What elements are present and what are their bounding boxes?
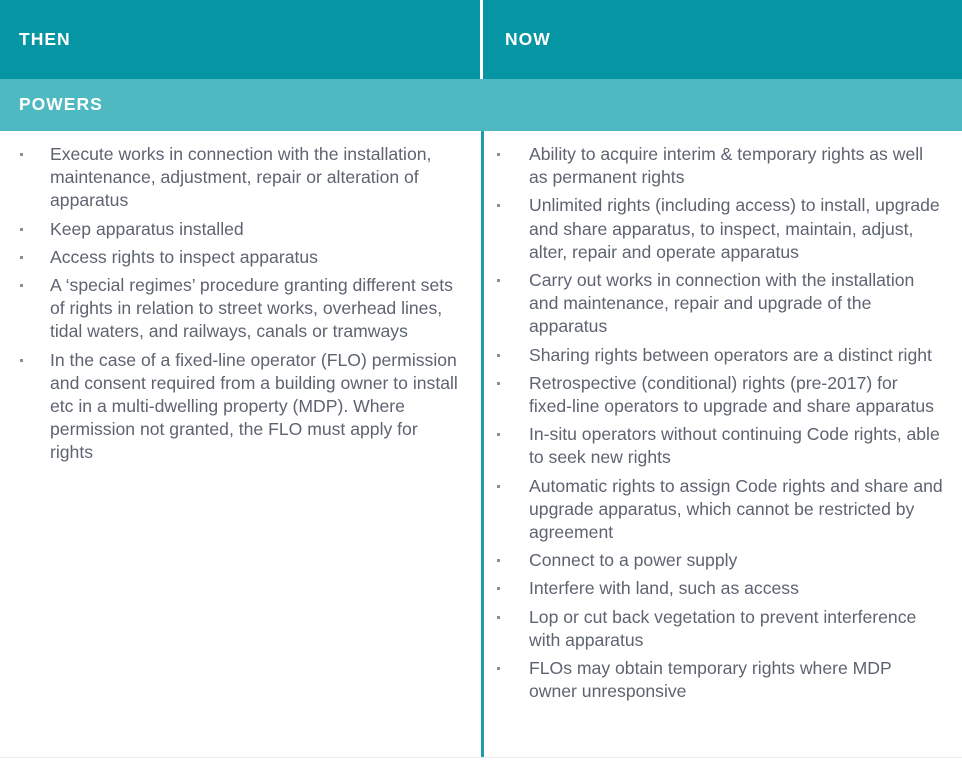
bullet-dot-icon <box>497 485 500 488</box>
column-title-then: THEN <box>19 31 71 49</box>
list-item-text: In the case of a fixed-line operator (FL… <box>50 350 458 463</box>
list-item-text: FLOs may obtain temporary rights where M… <box>529 658 891 701</box>
bullet-dot-icon <box>497 587 500 590</box>
bullet-dot-icon <box>497 382 500 385</box>
table-header-cell-then: THEN <box>0 0 480 79</box>
now-bullet-list: Ability to acquire interim & temporary r… <box>484 143 962 703</box>
list-item: In the case of a fixed-line operator (FL… <box>0 349 481 465</box>
list-item-text: Unlimited rights (including access) to i… <box>529 195 940 261</box>
table-header-row: THEN NOW <box>0 0 962 79</box>
list-item-text: Access rights to inspect apparatus <box>50 247 318 267</box>
list-item: Interfere with land, such as access <box>484 577 962 600</box>
bullet-dot-icon <box>497 279 500 282</box>
bullet-dot-icon <box>497 153 500 156</box>
list-item: Ability to acquire interim & temporary r… <box>484 143 962 189</box>
list-item-text: Connect to a power supply <box>529 550 737 570</box>
list-item: Automatic rights to assign Code rights a… <box>484 475 962 545</box>
list-item-text: Carry out works in connection with the i… <box>529 270 914 336</box>
comparison-table: THEN NOW POWERS Execute works in connect… <box>0 0 962 764</box>
bullet-dot-icon <box>497 559 500 562</box>
list-item: Sharing rights between operators are a d… <box>484 344 962 367</box>
list-item: Retrospective (conditional) rights (pre-… <box>484 372 962 418</box>
section-band-powers: POWERS <box>0 79 962 131</box>
list-item-text: Sharing rights between operators are a d… <box>529 345 932 365</box>
section-title: POWERS <box>19 96 103 114</box>
list-item: A ‘special regimes’ procedure granting d… <box>0 274 481 344</box>
bullet-dot-icon <box>20 284 23 287</box>
list-item: Access rights to inspect apparatus <box>0 246 481 269</box>
then-bullet-list: Execute works in connection with the ins… <box>0 143 481 465</box>
bullet-dot-icon <box>497 204 500 207</box>
list-item-text: Execute works in connection with the ins… <box>50 144 431 210</box>
list-item: In-situ operators without continuing Cod… <box>484 423 962 469</box>
list-item: Lop or cut back vegetation to prevent in… <box>484 606 962 652</box>
list-item-text: In-situ operators without continuing Cod… <box>529 424 940 467</box>
bullet-dot-icon <box>20 153 23 156</box>
bullet-dot-icon <box>20 359 23 362</box>
list-item-text: Interfere with land, such as access <box>529 578 799 598</box>
list-item-text: Ability to acquire interim & temporary r… <box>529 144 923 187</box>
list-item: Unlimited rights (including access) to i… <box>484 194 962 264</box>
bottom-rule <box>0 757 962 758</box>
list-item-text: A ‘special regimes’ procedure granting d… <box>50 275 453 341</box>
table-body-row: Execute works in connection with the ins… <box>0 131 962 757</box>
bullet-dot-icon <box>497 667 500 670</box>
bullet-dot-icon <box>497 354 500 357</box>
list-item-text: Automatic rights to assign Code rights a… <box>529 476 943 542</box>
list-item: FLOs may obtain temporary rights where M… <box>484 657 962 703</box>
bullet-dot-icon <box>497 616 500 619</box>
table-body-cell-then: Execute works in connection with the ins… <box>0 131 481 757</box>
list-item: Carry out works in connection with the i… <box>484 269 962 339</box>
list-item-text: Keep apparatus installed <box>50 219 244 239</box>
column-title-now: NOW <box>505 31 551 49</box>
table-header-cell-now: NOW <box>483 0 962 79</box>
list-item: Execute works in connection with the ins… <box>0 143 481 213</box>
list-item-text: Lop or cut back vegetation to prevent in… <box>529 607 916 650</box>
bullet-dot-icon <box>20 256 23 259</box>
list-item-text: Retrospective (conditional) rights (pre-… <box>529 373 934 416</box>
table-body-cell-now: Ability to acquire interim & temporary r… <box>484 131 962 757</box>
bullet-dot-icon <box>497 433 500 436</box>
bullet-dot-icon <box>20 228 23 231</box>
list-item: Keep apparatus installed <box>0 218 481 241</box>
list-item: Connect to a power supply <box>484 549 962 572</box>
